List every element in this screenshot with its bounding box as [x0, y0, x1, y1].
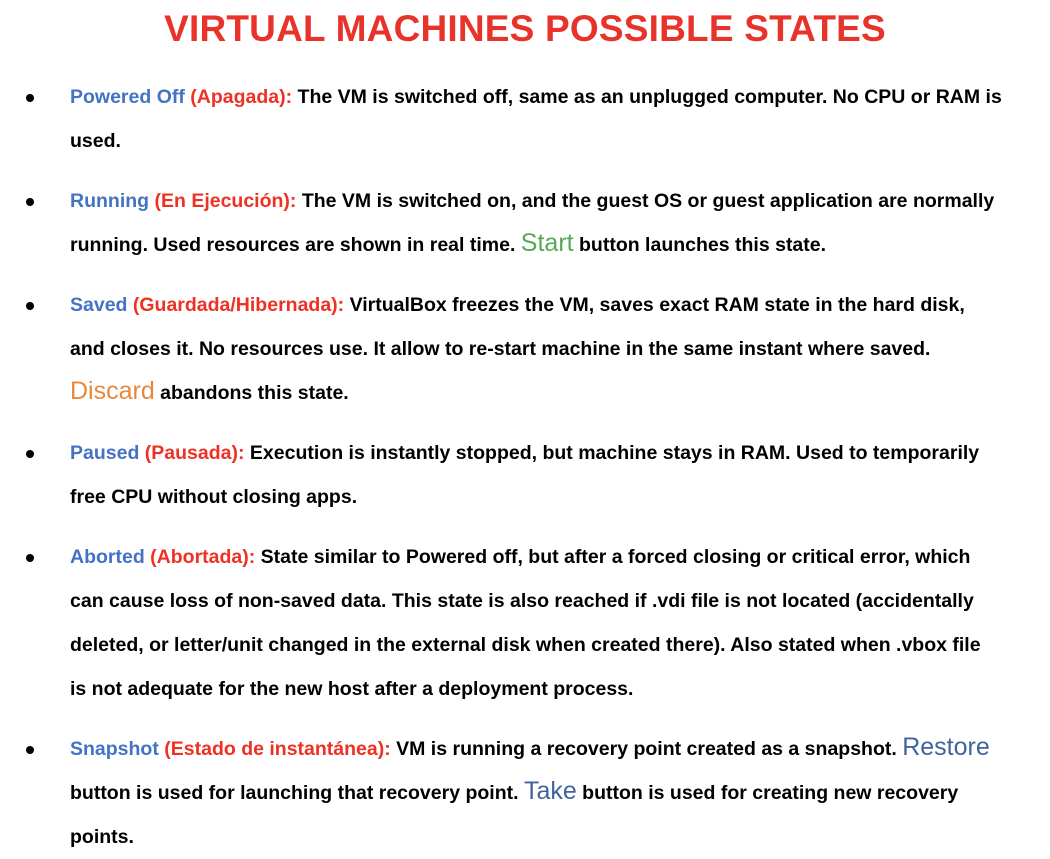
state-name-label: Powered Off — [70, 86, 185, 108]
list-item: Running (En Ejecución): The VM is switch… — [0, 179, 1050, 267]
list-item: Snapshot (Estado de instantánea): VM is … — [0, 727, 1050, 859]
state-spanish-label: (Guardada/Hibernada): — [133, 294, 344, 316]
state-spanish-label: (En Ejecución): — [154, 190, 296, 212]
take-button-word: Take — [524, 777, 577, 805]
vm-states-list: Powered Off (Apagada): The VM is switche… — [0, 75, 1050, 859]
state-name-label: Running — [70, 190, 149, 212]
state-description-cont: button launches this state. — [574, 234, 826, 256]
slide: VIRTUAL MACHINES POSSIBLE STATES Powered… — [0, 0, 1050, 834]
state-name-label: Aborted — [70, 546, 145, 568]
page-title: VIRTUAL MACHINES POSSIBLE STATES — [0, 0, 1050, 49]
list-item: Saved (Guardada/Hibernada): VirtualBox f… — [0, 283, 1050, 415]
state-spanish-label: (Pausada): — [145, 442, 245, 464]
list-item: Paused (Pausada): Execution is instantly… — [0, 431, 1050, 519]
state-description: VM is running a recovery point created a… — [391, 738, 902, 760]
state-spanish-label: (Apagada): — [190, 86, 292, 108]
start-button-word: Start — [521, 229, 574, 257]
list-item: Powered Off (Apagada): The VM is switche… — [0, 75, 1050, 163]
discard-button-word: Discard — [70, 377, 155, 405]
list-item: Aborted (Abortada): State similar to Pow… — [0, 535, 1050, 711]
state-name-label: Saved — [70, 294, 127, 316]
state-spanish-label: (Estado de instantánea): — [164, 738, 390, 760]
state-description-cont: abandons this state. — [155, 382, 349, 404]
state-spanish-label: (Abortada): — [150, 546, 255, 568]
state-description: State similar to Powered off, but after … — [70, 546, 981, 700]
state-name-label: Snapshot — [70, 738, 159, 760]
state-description-cont: button is used for launching that recove… — [70, 782, 524, 804]
restore-button-word: Restore — [902, 733, 990, 761]
state-name-label: Paused — [70, 442, 139, 464]
